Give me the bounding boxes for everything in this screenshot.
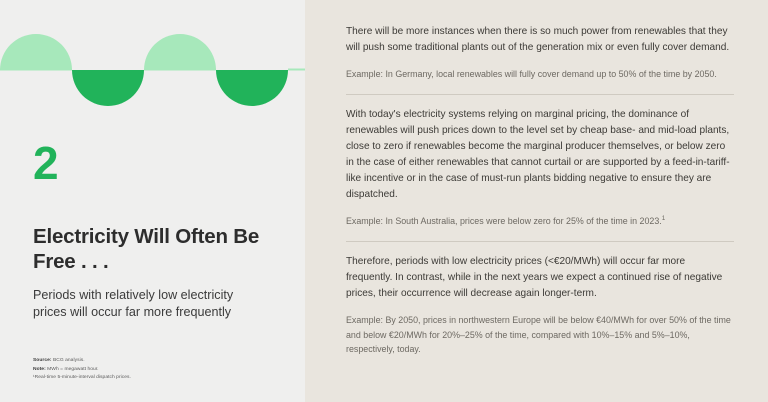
green-wave-semicircles-graphic	[0, 0, 305, 115]
block-3-example: Example: By 2050, prices in northwestern…	[346, 313, 733, 356]
footnote-source: Source: BCG analysis.	[33, 357, 283, 366]
block-1-lead: There will be more instances when there …	[346, 24, 733, 56]
block-3-example-text: Example: By 2050, prices in northwestern…	[346, 315, 731, 354]
block-2-example-text: Example: In South Australia, prices were…	[346, 216, 662, 226]
divider-2	[346, 241, 734, 242]
right-panel: There will be more instances when there …	[305, 0, 768, 402]
left-panel: 2 Electricity Will Often Be Free . . . P…	[0, 0, 305, 402]
page-title: Electricity Will Often Be Free . . .	[33, 224, 283, 274]
footnote-note-label: Note:	[33, 367, 46, 372]
text-block-2: With today's electricity systems relying…	[346, 107, 733, 228]
footnote-ref-1-text: ¹Real-time 5-minute-interval dispatch pr…	[33, 375, 131, 380]
left-content: 2 Electricity Will Often Be Free . . . P…	[33, 142, 283, 321]
footnote-ref-1: ¹Real-time 5-minute-interval dispatch pr…	[33, 374, 283, 383]
page-subtitle: Periods with relatively low electricity …	[33, 287, 265, 322]
block-2-lead: With today's electricity systems relying…	[346, 107, 733, 203]
footnote-note: Note: MWh = megawatt hour.	[33, 366, 283, 375]
block-3-lead: Therefore, periods with low electricity …	[346, 254, 733, 302]
footnotes: Source: BCG analysis. Note: MWh = megawa…	[33, 357, 283, 383]
divider-1	[346, 94, 734, 95]
section-number: 2	[33, 142, 283, 186]
text-block-1: There will be more instances when there …	[346, 24, 733, 81]
block-2-example: Example: In South Australia, prices were…	[346, 214, 733, 228]
text-block-3: Therefore, periods with low electricity …	[346, 254, 733, 356]
footnote-source-label: Source:	[33, 358, 52, 363]
block-2-example-superscript: 1	[662, 215, 666, 222]
footnote-source-text: BCG analysis.	[53, 358, 85, 363]
footnote-note-text: MWh = megawatt hour.	[47, 367, 98, 372]
block-1-example-text: Example: In Germany, local renewables wi…	[346, 69, 717, 79]
slide-root: 2 Electricity Will Often Be Free . . . P…	[0, 0, 768, 402]
block-1-example: Example: In Germany, local renewables wi…	[346, 67, 733, 81]
